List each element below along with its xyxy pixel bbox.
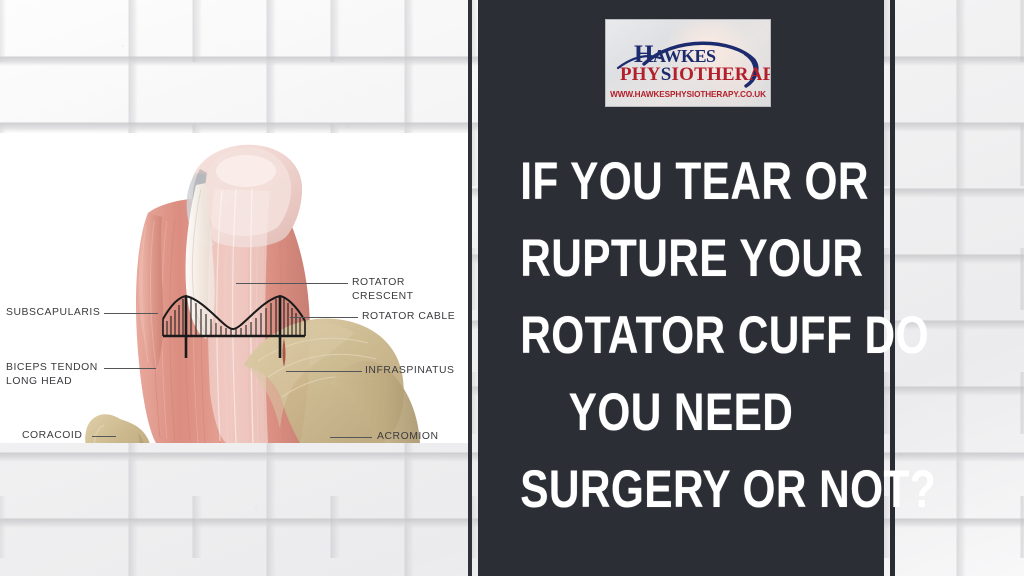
anat-label-rotator-crescent: ROTATOR CRESCENT <box>352 276 468 304</box>
anat-label-subscapularis: SUBSCAPULARIS <box>6 306 100 320</box>
logo-website-url: WWW.HAWKESPHYSIOTHERAPY.CO.UK <box>606 90 770 99</box>
leader-line-subscapularis <box>104 313 158 314</box>
leader-line-acromion-process <box>330 437 372 438</box>
poster-canvas: HAWKES PHYSIOTHERAPY WWW.HAWKESPHYSIOTHE… <box>0 0 1024 576</box>
anatomy-illustration-panel: SUBSCAPULARIS BICEPS TENDON LONG HEAD CO… <box>0 133 468 443</box>
headline-line-2: RUPTURE YOUR <box>520 220 842 297</box>
headline-line-3: ROTATOR CUFF DO <box>520 297 842 374</box>
logo-brand-secondary: PHYSIOTHERAPY <box>620 65 771 84</box>
anat-label-rotator-cable: ROTATOR CABLE <box>362 310 455 324</box>
leader-line-coracoid-process <box>92 436 116 437</box>
leader-line-rotator-crescent <box>236 283 348 284</box>
anat-label-biceps-tendon-long-head: BICEPS TENDON LONG HEAD <box>6 361 98 389</box>
anat-label-infraspinatus: INFRASPINATUS <box>365 364 455 378</box>
leader-line-biceps-tendon <box>104 368 156 369</box>
headline-line-1: IF YOU TEAR OR <box>520 143 842 220</box>
dark-panel-left-edge <box>468 0 472 576</box>
headline-line-5: SURGERY OR NOT? <box>520 451 842 528</box>
anat-label-acromion-process: ACROMION PROCESS <box>377 430 439 443</box>
leader-line-infraspinatus <box>286 371 362 372</box>
leader-line-rotator-cable <box>290 317 358 318</box>
headline-block: IF YOU TEAR OR RUPTURE YOUR ROTATOR CUFF… <box>480 143 882 528</box>
anat-label-coracoid-process: CORACOID PROCESS <box>22 429 82 443</box>
hawkes-physiotherapy-logo[interactable]: HAWKES PHYSIOTHERAPY WWW.HAWKESPHYSIOTHE… <box>605 19 771 107</box>
headline-line-4: YOU NEED <box>520 374 842 451</box>
